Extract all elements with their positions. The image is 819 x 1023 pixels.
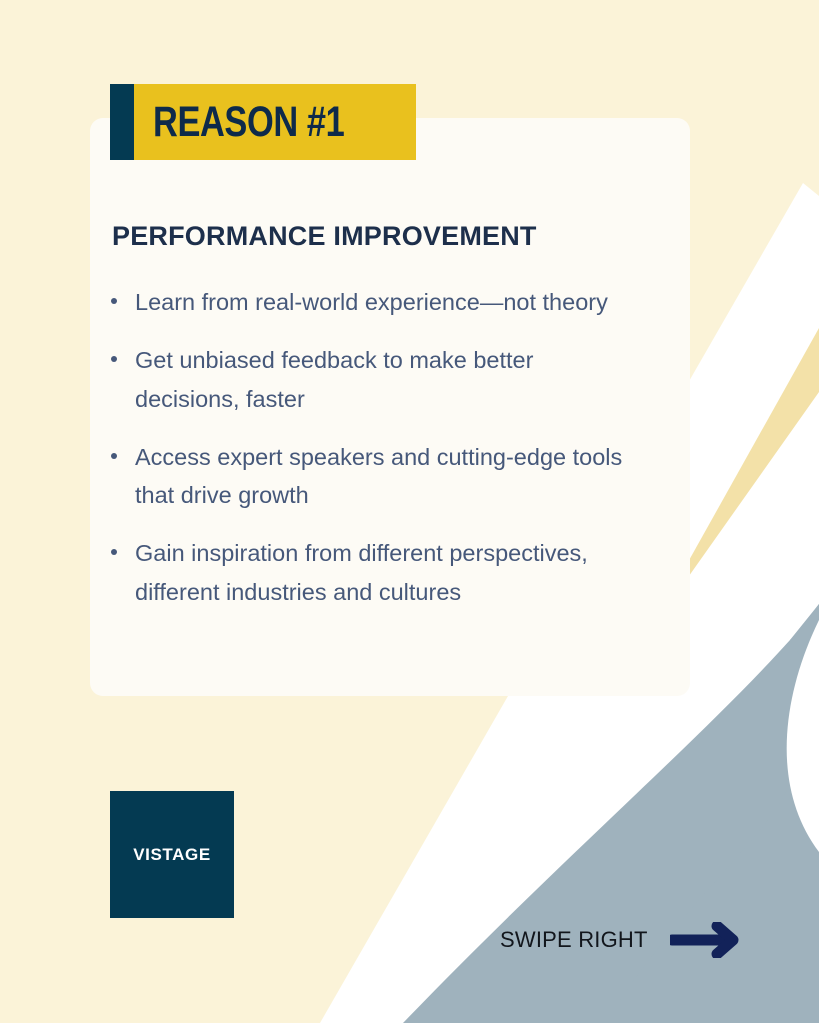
swipe-right-cta[interactable]: SWIPE RIGHT <box>500 922 740 958</box>
badge-label: REASON #1 <box>153 101 344 144</box>
benefits-list: Learn from real-world experience—not the… <box>108 283 628 611</box>
badge-accent-block <box>110 84 134 160</box>
bullet-dot-icon <box>111 549 117 555</box>
list-item-text: Gain inspiration from different perspect… <box>135 540 588 604</box>
list-item-text: Learn from real-world experience—not the… <box>135 289 608 315</box>
list-item: Learn from real-world experience—not the… <box>108 283 628 321</box>
vistage-logo: VISTAGE <box>110 791 234 918</box>
list-item: Access expert speakers and cutting-edge … <box>108 438 628 515</box>
list-item: Get unbiased feedback to make better dec… <box>108 341 628 418</box>
bullet-dot-icon <box>111 453 117 459</box>
badge-bar: REASON #1 <box>134 84 416 160</box>
list-item-text: Access expert speakers and cutting-edge … <box>135 444 622 508</box>
reason-badge: REASON #1 <box>110 84 416 160</box>
slide-canvas: REASON #1 PERFORMANCE IMPROVEMENT Learn … <box>0 0 819 1023</box>
arrow-right-icon <box>670 922 740 958</box>
logo-wordmark: VISTAGE <box>133 845 211 865</box>
bullet-dot-icon <box>111 298 117 304</box>
page-title: PERFORMANCE IMPROVEMENT <box>112 221 537 252</box>
swipe-right-label: SWIPE RIGHT <box>500 927 648 953</box>
bullet-dot-icon <box>111 356 117 362</box>
list-item-text: Get unbiased feedback to make better dec… <box>135 347 533 411</box>
list-item: Gain inspiration from different perspect… <box>108 534 628 611</box>
